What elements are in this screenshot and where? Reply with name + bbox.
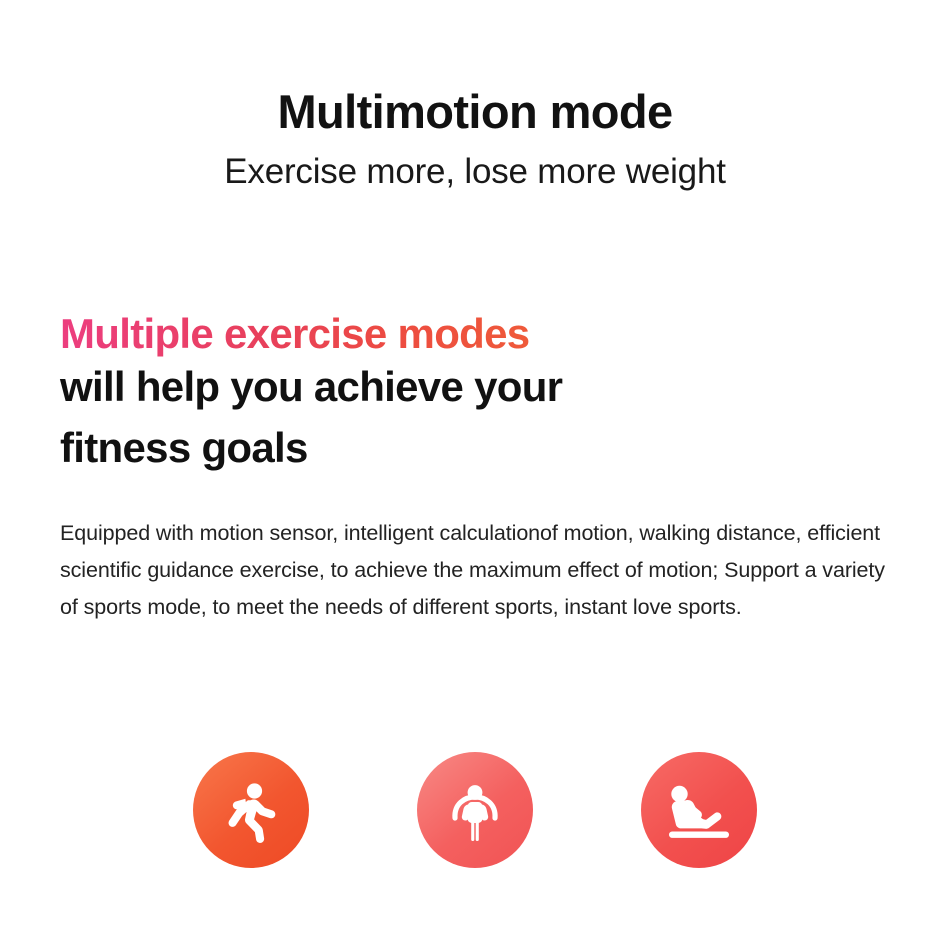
running-icon: [193, 752, 309, 868]
page-header: Multimotion mode Exercise more, lose mor…: [0, 86, 950, 192]
lede-heading: Multiple exercise modes will help you ac…: [60, 310, 896, 479]
jump-rope-icon: [417, 752, 533, 868]
page-subtitle: Exercise more, lose more weight: [0, 152, 950, 192]
lede-line-3: fitness goals: [60, 418, 896, 479]
sport-mode-icon-row: [0, 752, 950, 868]
lede-line-2: will help you achieve your: [60, 357, 896, 418]
content-block: Multiple exercise modes will help you ac…: [60, 310, 896, 626]
body-paragraph: Equipped with motion sensor, intelligent…: [60, 515, 888, 627]
promo-page: Multimotion mode Exercise more, lose mor…: [0, 0, 950, 950]
page-title: Multimotion mode: [0, 86, 950, 139]
lede-gradient-text: Multiple exercise modes: [60, 310, 529, 357]
sit-up-icon: [641, 752, 757, 868]
